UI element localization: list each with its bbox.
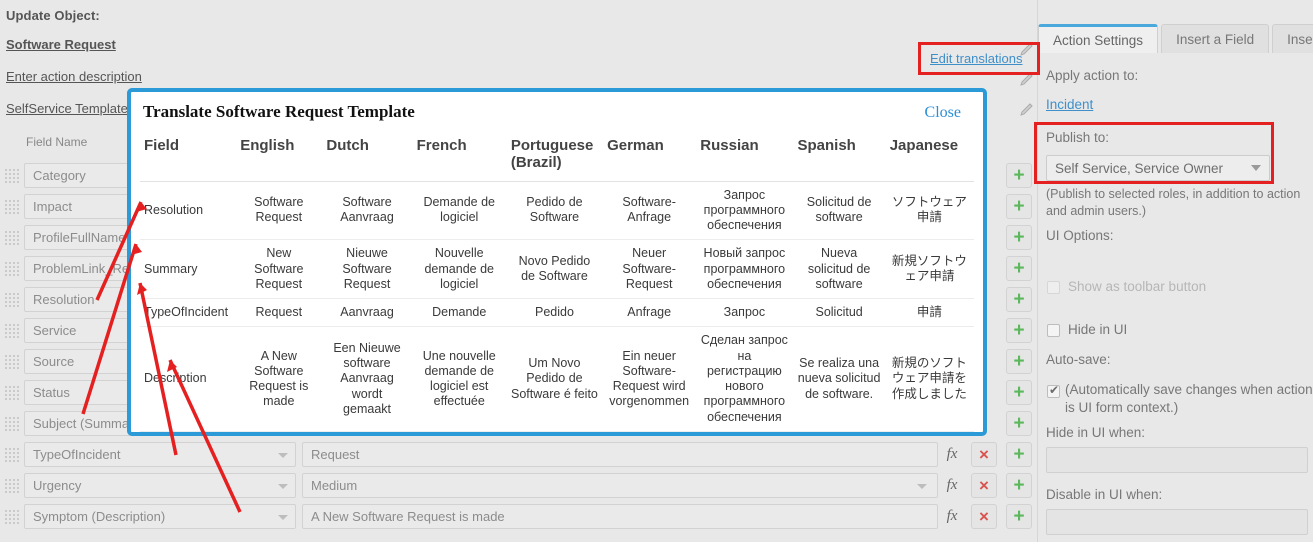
drag-handle-icon[interactable] — [3, 353, 21, 371]
add-button[interactable]: + — [1006, 225, 1032, 250]
add-button[interactable]: + — [1006, 163, 1032, 188]
tab-strip: Action Settings Insert a Field Insert a — [1038, 24, 1313, 53]
auto-save-label: Auto-save: — [1046, 352, 1111, 367]
cell-japanese[interactable]: 新規ソフトウェア申請 — [886, 240, 974, 299]
right-panel: Action Settings Insert a Field Insert a … — [1037, 0, 1313, 542]
close-button[interactable]: Close — [925, 104, 961, 122]
field-select[interactable]: Symptom (Description) — [24, 504, 296, 529]
list-item[interactable]: Symptom (Description) — [0, 501, 300, 532]
app-root: Update Object: Software Request Enter ac… — [0, 0, 1313, 542]
add-button[interactable]: + — [1006, 504, 1032, 529]
cell-russian[interactable]: Новый запрос программного обеспечения — [696, 240, 793, 299]
cell-dutch[interactable]: Nieuwe Software Request — [322, 240, 412, 299]
fx-button[interactable]: fx — [938, 442, 966, 467]
pencil-edit-icon[interactable] — [1019, 72, 1037, 88]
add-button[interactable]: + — [1006, 194, 1032, 219]
value-text: A New Software Request is made — [311, 509, 505, 524]
cell-english[interactable]: A New Software Request is made — [236, 327, 322, 432]
column-header-dutch: Dutch — [322, 136, 412, 181]
cell-dutch[interactable]: Aanvraag — [322, 299, 412, 327]
pencil-edit-icon[interactable] — [1019, 102, 1037, 118]
table-row: Description A New Software Request is ma… — [140, 327, 974, 432]
drag-handle-icon[interactable] — [3, 291, 21, 309]
fx-button[interactable]: fx — [938, 473, 966, 498]
object-name-link[interactable]: Software Request — [6, 37, 116, 52]
auto-save-checkbox[interactable] — [1047, 385, 1060, 398]
column-header-french: French — [413, 136, 507, 181]
show-as-toolbar-button-label: Show as toolbar button — [1068, 279, 1206, 294]
field-label: Source — [33, 354, 74, 369]
field-label: Impact — [33, 199, 72, 214]
chevron-down-icon — [278, 484, 288, 489]
column-header-russian: Russian — [696, 136, 793, 181]
add-button[interactable]: + — [1006, 442, 1032, 467]
cell-german[interactable]: Software-Anfrage — [603, 181, 696, 240]
hide-in-ui-when-label: Hide in UI when: — [1046, 425, 1145, 440]
remove-button[interactable]: × — [971, 442, 997, 467]
drag-handle-icon[interactable] — [3, 322, 21, 340]
column-header-japanese: Japanese — [886, 136, 974, 181]
add-button[interactable]: + — [1006, 349, 1032, 374]
chevron-down-icon — [278, 515, 288, 520]
value-text: Request — [311, 447, 359, 462]
apply-action-to-value-link[interactable]: Incident — [1046, 97, 1093, 112]
selfservice-template-link[interactable]: SelfService Template — [6, 101, 128, 116]
chevron-down-icon — [917, 484, 927, 489]
cell-spanish[interactable]: Se realiza una nueva solicitud de softwa… — [794, 327, 886, 432]
cell-french[interactable]: Nouvelle demande de logiciel — [413, 240, 507, 299]
drag-handle-icon[interactable] — [3, 446, 21, 464]
hide-in-ui-checkbox[interactable] — [1047, 324, 1060, 337]
disable-in-ui-when-label: Disable in UI when: — [1046, 487, 1162, 502]
value-text: Medium — [311, 478, 357, 493]
field-label: Category — [33, 168, 86, 183]
add-button[interactable]: + — [1006, 473, 1032, 498]
list-item[interactable]: Urgency — [0, 470, 300, 501]
cell-portuguese[interactable]: Novo Pedido de Software — [507, 240, 603, 299]
enter-action-description-link[interactable]: Enter action description — [6, 69, 142, 84]
cell-field: Summary — [140, 240, 236, 299]
field-label: Urgency — [33, 478, 81, 493]
auto-save-hint: (Automatically save changes when action … — [1065, 381, 1313, 417]
cell-field: Resolution — [140, 181, 236, 240]
drag-handle-icon[interactable] — [3, 198, 21, 216]
add-button[interactable]: + — [1006, 380, 1032, 405]
field-label: Service — [33, 323, 76, 338]
modal-title: Translate Software Request Template — [143, 102, 415, 122]
cell-dutch[interactable]: Een Nieuwe software Aanvraag wordt gemaa… — [322, 327, 412, 432]
field-label: Subject (Summa — [33, 416, 129, 431]
cell-english[interactable]: Request — [236, 299, 322, 327]
value-field-typeofincident[interactable]: Request — [302, 442, 938, 467]
cell-dutch[interactable]: Software Aanvraag — [322, 181, 412, 240]
cell-field: Description — [140, 327, 236, 432]
cell-russian[interactable]: Запрос — [696, 299, 793, 327]
translations-table: Field English Dutch French Portuguese (B… — [140, 136, 974, 432]
table-header-row: Field English Dutch French Portuguese (B… — [140, 136, 974, 181]
cell-french[interactable]: Demande de logiciel — [413, 181, 507, 240]
cell-japanese[interactable]: 申請 — [886, 299, 974, 327]
cell-russian[interactable]: Запрос программного обеспечения — [696, 181, 793, 240]
cell-portuguese[interactable]: Pedido — [507, 299, 603, 327]
cell-german[interactable]: Ein neuer Software-Request wird vorgenom… — [603, 327, 696, 432]
ui-options-label: UI Options: — [1046, 228, 1114, 243]
table-row: Resolution Software Request Software Aan… — [140, 181, 974, 240]
cell-german[interactable]: Anfrage — [603, 299, 696, 327]
publish-to-hint: (Publish to selected roles, in addition … — [1046, 186, 1313, 220]
column-header-german: German — [603, 136, 696, 181]
drag-handle-icon[interactable] — [3, 384, 21, 402]
edit-translations-link[interactable]: Edit translations — [930, 51, 1023, 66]
cell-english[interactable]: Software Request — [236, 181, 322, 240]
value-field-symptom[interactable]: A New Software Request is made — [302, 504, 938, 529]
field-label: Resolution — [33, 292, 94, 307]
drag-handle-icon[interactable] — [3, 415, 21, 433]
translate-template-modal: Translate Software Request Template Clos… — [127, 88, 987, 436]
tab-insert-a-field[interactable]: Insert a Field — [1161, 24, 1269, 53]
value-field-urgency[interactable]: Medium — [302, 473, 938, 498]
field-label: Symptom (Description) — [33, 509, 165, 524]
column-header-english: English — [236, 136, 322, 181]
hide-in-ui-when-input[interactable] — [1046, 447, 1308, 473]
field-label: Status — [33, 385, 70, 400]
table-row: TypeOfIncident Request Aanvraag Demande … — [140, 299, 974, 327]
cell-spanish[interactable]: Nueva solicitud de software — [794, 240, 886, 299]
apply-action-to-label: Apply action to: — [1046, 68, 1138, 83]
list-item[interactable]: TypeOfIncident — [0, 439, 300, 470]
update-object-label: Update Object: — [6, 8, 100, 23]
cell-russian[interactable]: Сделан запрос на регистрацию нового прог… — [696, 327, 793, 432]
field-select[interactable]: Urgency — [24, 473, 296, 498]
cell-spanish[interactable]: Solicitud — [794, 299, 886, 327]
cell-french[interactable]: Demande — [413, 299, 507, 327]
show-as-toolbar-button-checkbox — [1047, 281, 1060, 294]
column-header-field: Field — [140, 136, 236, 181]
cell-field: TypeOfIncident — [140, 299, 236, 327]
disable-in-ui-when-input[interactable] — [1046, 509, 1308, 535]
drag-handle-icon[interactable] — [3, 508, 21, 526]
field-name-column-header: Field Name — [26, 135, 87, 149]
tab-action-settings[interactable]: Action Settings — [1038, 24, 1158, 53]
tab-insert-an-action[interactable]: Insert a — [1272, 24, 1313, 53]
fx-button[interactable]: fx — [938, 504, 966, 529]
drag-handle-icon[interactable] — [3, 477, 21, 495]
drag-handle-icon[interactable] — [3, 260, 21, 278]
field-label: ProfileFullName — [33, 230, 125, 245]
hide-in-ui-label: Hide in UI — [1068, 322, 1127, 337]
cell-english[interactable]: New Software Request — [236, 240, 322, 299]
remove-button[interactable]: × — [971, 504, 997, 529]
field-label: TypeOfIncident — [33, 447, 120, 462]
field-select[interactable]: TypeOfIncident — [24, 442, 296, 467]
cell-french[interactable]: Une nouvelle demande de logiciel est eff… — [413, 327, 507, 432]
cell-spanish[interactable]: Solicitud de software — [794, 181, 886, 240]
add-button[interactable]: + — [1006, 287, 1032, 312]
field-label: ProblemLink_Re — [33, 261, 129, 276]
publish-to-select[interactable]: Self Service, Service Owner — [1046, 155, 1270, 181]
remove-button[interactable]: × — [971, 473, 997, 498]
publish-to-label: Publish to: — [1046, 130, 1109, 145]
publish-to-value: Self Service, Service Owner — [1055, 161, 1223, 176]
drag-handle-icon[interactable] — [3, 167, 21, 185]
add-button[interactable]: + — [1006, 256, 1032, 281]
chevron-down-icon — [278, 453, 288, 458]
table-row: Summary New Software Request Nieuwe Soft… — [140, 240, 974, 299]
drag-handle-icon[interactable] — [3, 229, 21, 247]
column-header-spanish: Spanish — [794, 136, 886, 181]
cell-portuguese[interactable]: Pedido de Software — [507, 181, 603, 240]
cell-german[interactable]: Neuer Software-Request — [603, 240, 696, 299]
cell-japanese[interactable]: ソフトウェア申請 — [886, 181, 974, 240]
cell-japanese[interactable]: 新規のソフトウェア申請を作成しました — [886, 327, 974, 432]
add-button[interactable]: + — [1006, 411, 1032, 436]
cell-portuguese[interactable]: Um Novo Pedido de Software é feito — [507, 327, 603, 432]
chevron-down-icon — [1251, 165, 1261, 171]
column-header-portuguese: Portuguese (Brazil) — [507, 136, 603, 181]
add-button[interactable]: + — [1006, 318, 1032, 343]
